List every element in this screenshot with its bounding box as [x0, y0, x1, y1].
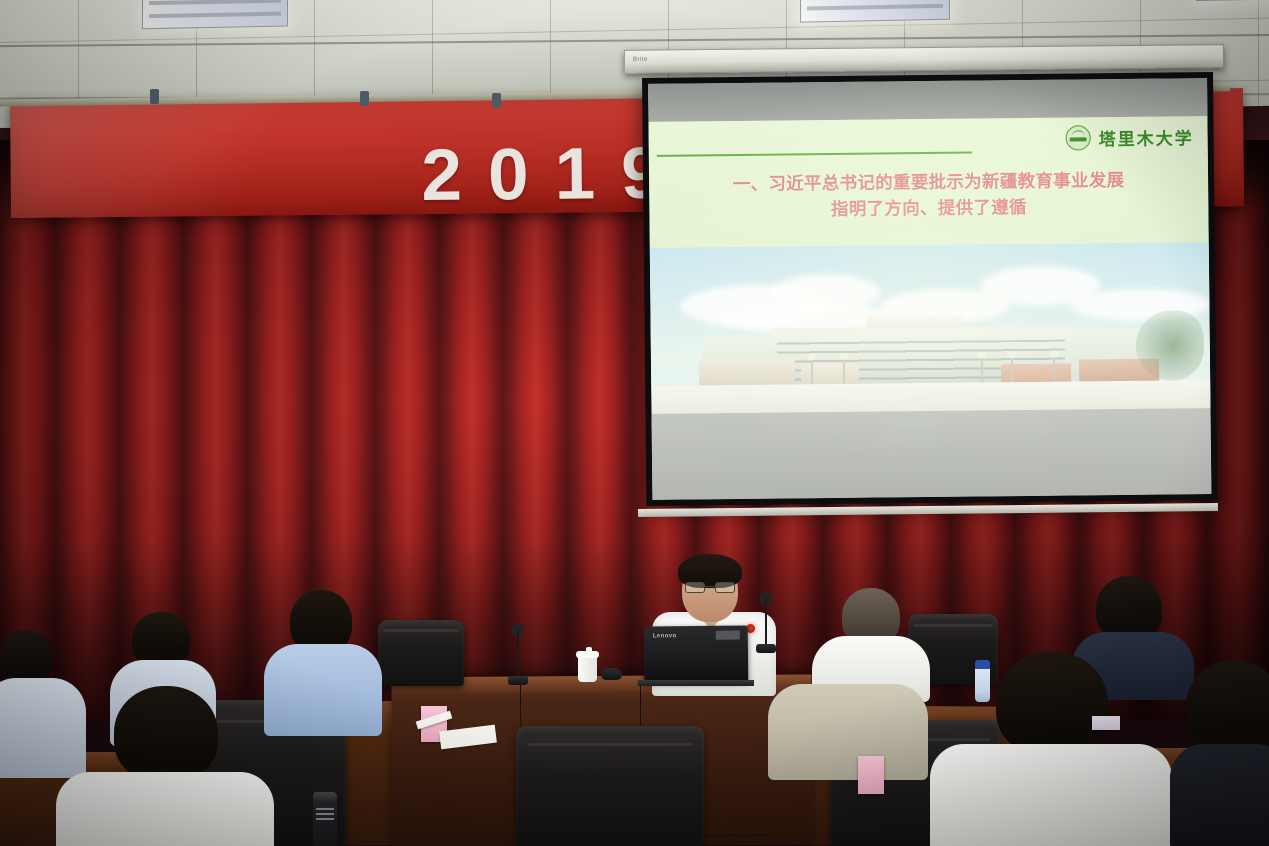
university-name: 塔里木大学 [1099, 124, 1194, 150]
slide-header: 塔里木大学 [648, 116, 1207, 170]
name-card [858, 756, 884, 794]
laptop-base [638, 680, 754, 686]
chair [516, 726, 704, 846]
glasses-bridge [705, 586, 715, 587]
speaker-glasses [684, 582, 736, 594]
audience-torso [1170, 744, 1269, 846]
slide-title-line-2: 指明了方向、提供了遵循 [667, 193, 1190, 225]
teacup [578, 656, 597, 682]
ceiling-light-panel [142, 0, 288, 29]
audience-torso [768, 684, 928, 780]
audience-member-foreground [940, 652, 1160, 846]
projector-screen: 塔里木大学 一、习近平总书记的重要批示为新疆教育事业发展 指明了方向、提供了遵循 [642, 72, 1217, 506]
audience-member [264, 590, 380, 730]
audience-head [996, 652, 1108, 756]
laptop: Lenovo [644, 625, 749, 682]
chair [378, 620, 464, 686]
banner-clip [360, 91, 369, 106]
university-logo: 塔里木大学 [1066, 124, 1194, 150]
slide-title: 一、习近平总书记的重要批示为新疆教育事业发展 指明了方向、提供了遵循 [649, 164, 1209, 224]
water-bottle [975, 660, 990, 702]
banner-clip [150, 89, 159, 104]
presentation-slide: 塔里木大学 一、习近平总书记的重要批示为新疆教育事业发展 指明了方向、提供了遵循 [648, 116, 1210, 426]
microphone-neck [765, 598, 767, 646]
audience-head [1186, 660, 1269, 756]
banner-clip [492, 93, 501, 108]
audience-member [768, 648, 928, 768]
teacup-knob [586, 647, 592, 652]
audience-torso [264, 644, 382, 736]
audience-member-foreground [1174, 660, 1269, 846]
slide-photo [650, 242, 1211, 426]
university-emblem-icon [1066, 125, 1091, 150]
audience-torso [56, 772, 274, 846]
thermos [313, 792, 337, 846]
audience-member-foreground [56, 686, 256, 846]
laptop-brand-label: Lenovo [653, 633, 677, 639]
microphone-neck [517, 630, 519, 678]
laptop-sticker [716, 631, 740, 640]
audience-head [114, 686, 218, 782]
screen-dead-area-bottom [652, 408, 1212, 500]
name-card [1092, 716, 1120, 730]
computer-mouse [601, 668, 622, 680]
slide-divider-rule [657, 152, 972, 157]
screen-surface: 塔里木大学 一、习近平总书记的重要批示为新疆教育事业发展 指明了方向、提供了遵循 [648, 78, 1211, 500]
teacup-lid [576, 651, 599, 658]
conference-hall-photo: 2019 年 Brite 塔里木大学 一、习近平总书记的重要批示为新疆教育事业发… [0, 0, 1269, 846]
campus-tree [1135, 310, 1204, 381]
glasses-lens-right [715, 582, 735, 593]
microphone-base [508, 676, 528, 685]
glasses-lens-left [685, 582, 705, 593]
screen-housing-label: Brite [633, 57, 648, 63]
screen-dead-area-top [648, 78, 1207, 122]
ceiling-light-panel [800, 0, 950, 23]
audience-torso [930, 744, 1172, 846]
